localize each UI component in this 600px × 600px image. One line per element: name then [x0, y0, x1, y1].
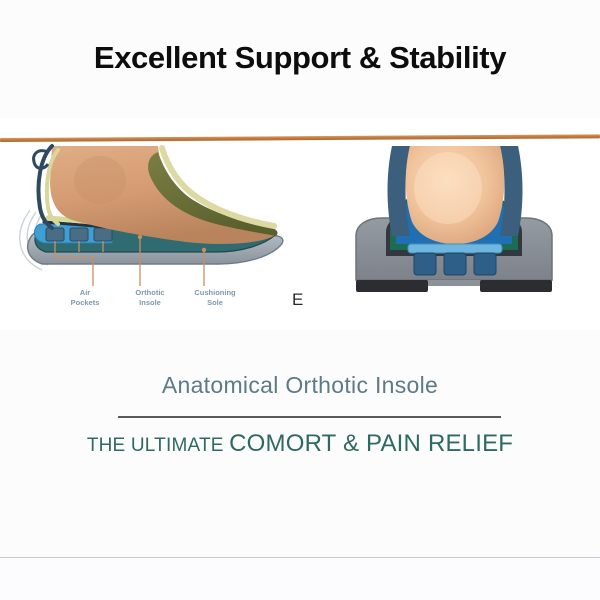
callout-line-2: Pockets	[48, 298, 122, 308]
callout-line-1: Air	[48, 288, 122, 298]
tread-pad	[356, 280, 428, 292]
heel-highlight	[414, 152, 482, 224]
air-pocket-block	[474, 253, 496, 275]
air-strip	[408, 244, 502, 253]
air-pocket	[70, 228, 88, 241]
callout-orthotic-insole: Orthotic Insole	[113, 288, 187, 308]
foot-side-view-svg	[8, 140, 308, 300]
air-pocket	[46, 228, 64, 241]
watermark-letter: E	[292, 290, 303, 310]
product-feature-card: Excellent Support & Stability	[0, 0, 600, 600]
page-title: Excellent Support & Stability	[0, 40, 600, 76]
foot-rear-view-heel-support	[330, 140, 580, 320]
air-pocket-block	[414, 253, 436, 275]
section-divider-rule	[118, 416, 501, 418]
callout-line-2: Insole	[113, 298, 187, 308]
air-pocket-block	[444, 253, 466, 275]
air-pocket-block-group	[414, 253, 496, 275]
callout-line-1: Cushioning	[178, 288, 252, 298]
tread-pad	[480, 280, 552, 292]
product-subtitle: Anatomical Orthotic Insole	[0, 372, 600, 399]
callout-air-pockets: Air Pockets	[48, 288, 122, 308]
callout-cushioning-sole: Cushioning Sole	[178, 288, 252, 308]
air-pocket	[94, 228, 112, 241]
callout-label-group: Air Pockets Orthotic Insole Cushioning S…	[0, 288, 300, 334]
callout-line-2: Sole	[178, 298, 252, 308]
tread-pad-center	[428, 280, 480, 286]
product-tagline: THE ULTIMATE COMORT & PAIN RELIEF	[0, 430, 600, 458]
foot-side-view-cutaway	[8, 140, 308, 300]
air-pocket-group	[46, 228, 112, 241]
callout-line-1: Orthotic	[113, 288, 187, 298]
tagline-lead: THE ULTIMATE	[87, 435, 229, 456]
tread-pad-group	[356, 280, 552, 292]
footer-area	[0, 558, 600, 600]
illustration-band: Air Pockets Orthotic Insole Cushioning S…	[0, 118, 600, 330]
foot-rear-view-svg	[330, 140, 580, 320]
tagline-emphasis: COMORT & PAIN RELIEF	[229, 430, 513, 457]
ankle-shadow	[74, 156, 126, 204]
